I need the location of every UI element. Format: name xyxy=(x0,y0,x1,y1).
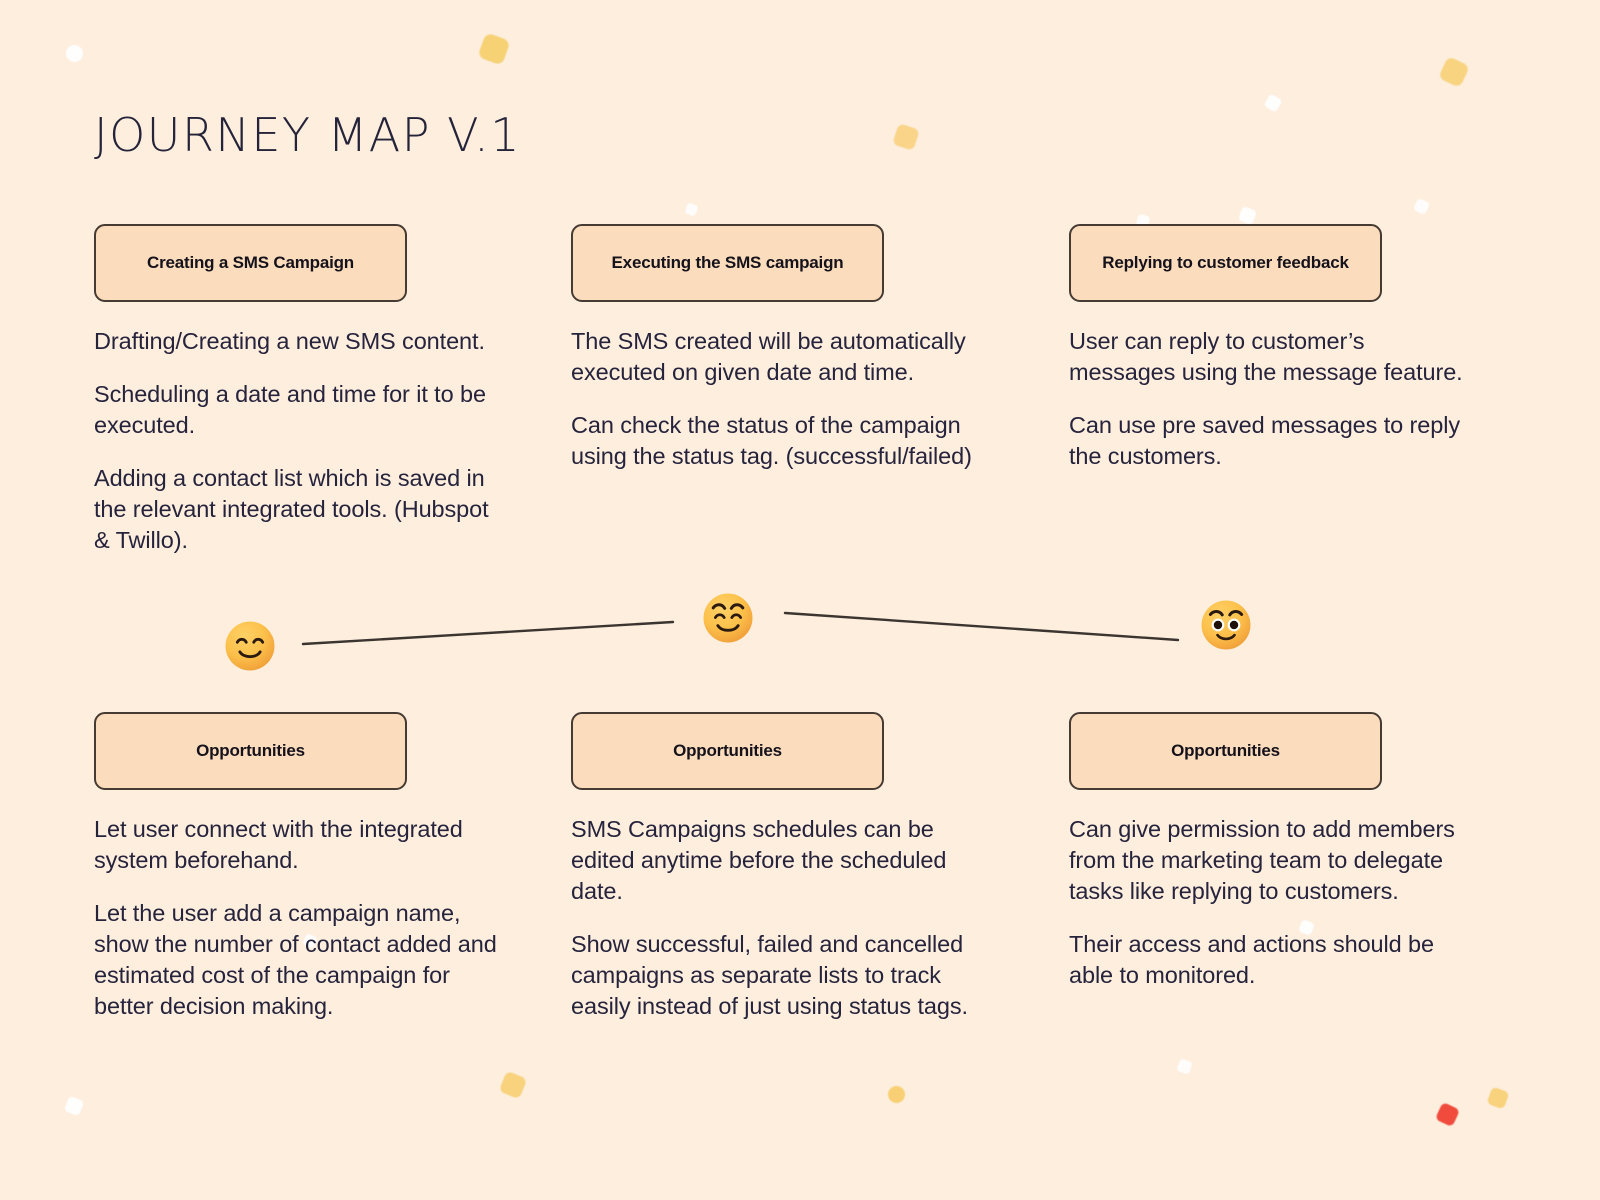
yellow-square-decoration xyxy=(892,123,920,151)
emoji-smiling-face-with-eyebrows-icon xyxy=(701,591,755,645)
stage-point: User can reply to customer’s messages us… xyxy=(1069,326,1469,388)
stage-body-2: The SMS created will be automatically ex… xyxy=(571,326,986,472)
yellow-square-decoration xyxy=(1486,1086,1509,1109)
white-square-decoration xyxy=(64,1096,85,1117)
white-square-decoration xyxy=(1176,1058,1193,1075)
opportunities-header-box-3[interactable]: Opportunities xyxy=(1069,712,1382,790)
stage-body-3: User can reply to customer’s messages us… xyxy=(1069,326,1469,472)
opportunity-point: Their access and actions should be able … xyxy=(1069,929,1469,991)
emoji-smiling-face-with-smiling-eyes-icon xyxy=(223,619,277,673)
stage-column-2-top: Executing the SMS campaign The SMS creat… xyxy=(571,224,1001,472)
white-dot-decoration xyxy=(66,45,83,62)
stage-column-1-top: Creating a SMS Campaign Drafting/Creatin… xyxy=(94,224,524,556)
white-square-decoration xyxy=(1413,198,1430,215)
journey-map-canvas: JOURNEY MAP V.1 Creating a SMS Campaign … xyxy=(0,0,1600,1200)
red-square-decoration xyxy=(1435,1102,1460,1127)
stage-point: Can check the status of the campaign usi… xyxy=(571,410,986,472)
stage-header-box-2[interactable]: Executing the SMS campaign xyxy=(571,224,884,302)
opportunities-header-label-1: Opportunities xyxy=(196,741,305,761)
opportunity-point: SMS Campaigns schedules can be edited an… xyxy=(571,814,991,907)
yellow-dot-decoration xyxy=(888,1086,905,1103)
opportunity-body-3: Can give permission to add members from … xyxy=(1069,814,1469,991)
stage-header-label-2: Executing the SMS campaign xyxy=(612,253,844,273)
yellow-square-decoration xyxy=(1438,56,1470,88)
opportunity-point: Can give permission to add members from … xyxy=(1069,814,1469,907)
emotion-journey-band xyxy=(0,576,1600,686)
stage-body-1: Drafting/Creating a new SMS content. Sch… xyxy=(94,326,504,556)
stage-point: Can use pre saved messages to reply the … xyxy=(1069,410,1469,472)
white-square-decoration xyxy=(684,202,698,216)
opportunities-header-label-3: Opportunities xyxy=(1171,741,1280,761)
stage-column-3-top: Replying to customer feedback User can r… xyxy=(1069,224,1499,472)
page-title: JOURNEY MAP V.1 xyxy=(94,108,521,162)
connector-left xyxy=(303,622,673,644)
opportunity-point: Let the user add a campaign name, show t… xyxy=(94,898,509,1022)
opportunity-column-3: Opportunities Can give permission to add… xyxy=(1069,712,1499,991)
emoji-face-with-wide-open-eyes-icon xyxy=(1199,598,1253,652)
stage-point: Drafting/Creating a new SMS content. xyxy=(94,326,504,357)
opportunity-column-2: Opportunities SMS Campaigns schedules ca… xyxy=(571,712,1001,1022)
yellow-square-decoration xyxy=(499,1071,528,1100)
opportunity-body-1: Let user connect with the integrated sys… xyxy=(94,814,509,1022)
opportunity-point: Let user connect with the integrated sys… xyxy=(94,814,509,876)
opportunity-body-2: SMS Campaigns schedules can be edited an… xyxy=(571,814,991,1022)
stage-point: Adding a contact list which is saved in … xyxy=(94,463,504,556)
opportunities-header-box-2[interactable]: Opportunities xyxy=(571,712,884,790)
opportunities-header-label-2: Opportunities xyxy=(673,741,782,761)
connector-right xyxy=(785,613,1178,640)
white-square-decoration xyxy=(1263,93,1282,112)
opportunity-column-1: Opportunities Let user connect with the … xyxy=(94,712,524,1022)
opportunities-header-box-1[interactable]: Opportunities xyxy=(94,712,407,790)
white-square-decoration xyxy=(1238,206,1257,225)
stage-header-box-1[interactable]: Creating a SMS Campaign xyxy=(94,224,407,302)
stage-point: Scheduling a date and time for it to be … xyxy=(94,379,504,441)
opportunity-point: Show successful, failed and cancelled ca… xyxy=(571,929,991,1022)
stage-point: The SMS created will be automatically ex… xyxy=(571,326,986,388)
stage-header-box-3[interactable]: Replying to customer feedback xyxy=(1069,224,1382,302)
stage-header-label-3: Replying to customer feedback xyxy=(1102,253,1348,273)
yellow-square-decoration xyxy=(477,32,510,65)
stage-header-label-1: Creating a SMS Campaign xyxy=(147,253,354,273)
